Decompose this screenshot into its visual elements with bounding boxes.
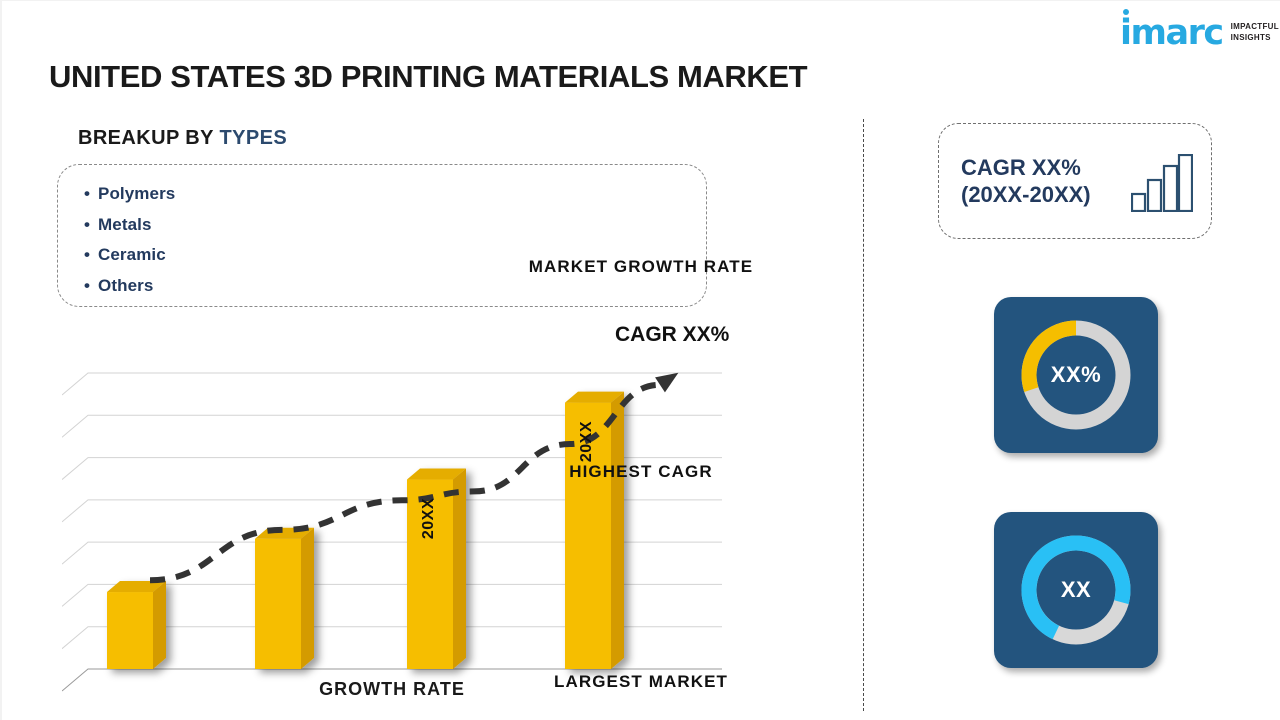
- market-growth-rate-caption: MARKET GROWTH RATE: [2, 257, 1280, 277]
- bar-value-label: 20XX: [578, 421, 596, 462]
- largest-market-value: XX: [994, 512, 1158, 668]
- breakup-highlight: TYPES: [219, 127, 287, 149]
- largest-market-card: XX: [994, 512, 1158, 668]
- logo-wordmark: imarc: [1120, 16, 1223, 51]
- vertical-divider: [863, 119, 864, 711]
- logo-tagline: IMPACTFUL INSIGHTS: [1231, 22, 1279, 44]
- imarc-logo: imarc IMPACTFUL INSIGHTS: [1120, 11, 1270, 55]
- logo-dot-icon: [1123, 9, 1129, 15]
- page-title: UNITED STATES 3D PRINTING MATERIALS MARK…: [49, 59, 807, 95]
- breakup-prefix: BREAKUP BY: [78, 127, 219, 149]
- highest-cagr-card: XX%: [994, 297, 1158, 453]
- bullet-icon: •: [84, 210, 98, 241]
- breakup-heading: BREAKUP BY TYPES: [78, 127, 287, 150]
- chart-svg: [62, 331, 752, 716]
- market-growth-rate-box: CAGR XX% (20XX-20XX): [938, 123, 1212, 239]
- slide-canvas: imarc IMPACTFUL INSIGHTS UNITED STATES 3…: [0, 0, 1280, 720]
- logo-tagline-line1: IMPACTFUL: [1231, 22, 1279, 33]
- chart-bars: [107, 392, 624, 669]
- list-item-label: Others: [98, 276, 153, 295]
- list-item-label: Polymers: [98, 184, 175, 203]
- cagr-line2: (20XX-20XX): [961, 181, 1091, 209]
- list-item-label: Metals: [98, 215, 152, 234]
- largest-market-caption: LARGEST MARKET: [2, 672, 1280, 692]
- chart-cagr-label: CAGR XX%: [615, 323, 729, 347]
- market-growth-rate-text: CAGR XX% (20XX-20XX): [961, 154, 1091, 209]
- bar-chart-icon: [1131, 154, 1193, 212]
- list-item: •Metals: [84, 210, 706, 241]
- types-list-box: •Polymers •Metals •Ceramic •Others: [57, 164, 707, 307]
- logo-tagline-line2: INSIGHTS: [1231, 33, 1279, 44]
- growth-rate-bar-chart: CAGR XX% GROWTH RATE 20XX 20XX: [62, 331, 752, 716]
- highest-cagr-caption: HIGHEST CAGR: [2, 462, 1280, 482]
- cagr-line1: CAGR XX%: [961, 154, 1091, 182]
- logo-text: imarc: [1120, 13, 1223, 53]
- bar-value-label: 20XX: [420, 498, 438, 539]
- bullet-icon: •: [84, 179, 98, 210]
- highest-cagr-value: XX%: [994, 297, 1158, 453]
- list-item: •Polymers: [84, 179, 706, 210]
